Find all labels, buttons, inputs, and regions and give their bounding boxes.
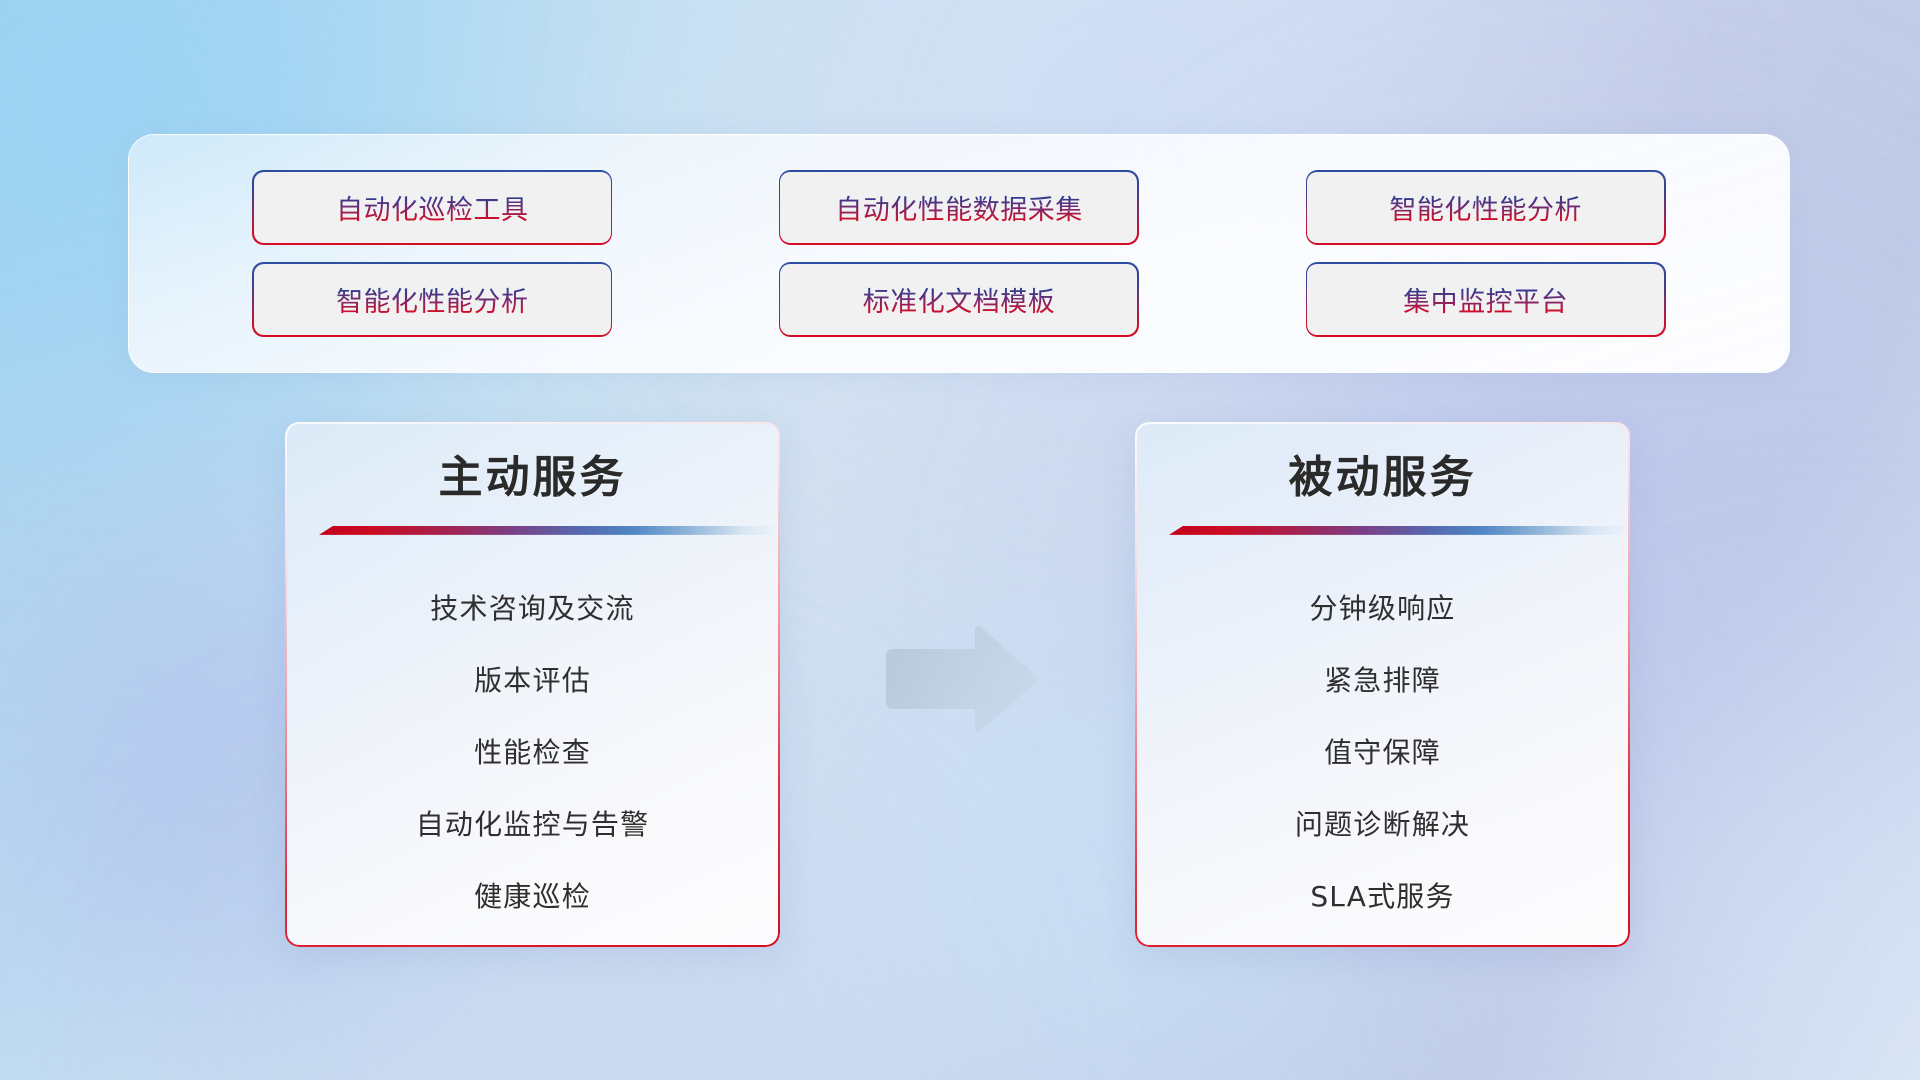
list-item: 紧急排障 <box>1324 643 1441 715</box>
capability-tag-cell: 自动化巡检工具 <box>169 172 696 243</box>
list-item: 技术咨询及交流 <box>430 571 634 643</box>
arrow-right-icon <box>880 620 1040 738</box>
capability-tag-label: 自动化巡检工具 <box>336 188 529 227</box>
capability-tag-cell: 标准化文档模板 <box>696 264 1223 335</box>
card-divider-gradient <box>319 526 780 535</box>
capability-tag-label: 智能化性能分析 <box>336 280 529 319</box>
capability-tag-automated-performance-data-collection[interactable]: 自动化性能数据采集 <box>780 172 1137 243</box>
list-item: 值守保障 <box>1324 715 1441 787</box>
capability-tag-cell: 智能化性能分析 <box>169 264 696 335</box>
capability-tag-cell: 自动化性能数据采集 <box>696 172 1223 243</box>
capability-tag-panel: 自动化巡检工具 自动化性能数据采集 智能化性能分析 智能化性能分析 标准化文档模… <box>128 134 1790 373</box>
card-divider-wrap <box>1169 526 1596 537</box>
capability-tag-intelligent-performance-analysis-2[interactable]: 智能化性能分析 <box>254 264 611 335</box>
capability-tag-row-2: 智能化性能分析 标准化文档模板 集中监控平台 <box>169 264 1749 335</box>
list-item: 健康巡检 <box>474 859 591 931</box>
card-divider-gradient <box>1169 526 1630 535</box>
capability-tag-label: 智能化性能分析 <box>1389 188 1582 227</box>
service-list-proactive: 技术咨询及交流 版本评估 性能检查 自动化监控与告警 健康巡检 <box>319 571 746 947</box>
capability-tag-cell: 智能化性能分析 <box>1222 172 1749 243</box>
capability-tag-label: 集中监控平台 <box>1403 280 1568 319</box>
capability-tag-row-1: 自动化巡检工具 自动化性能数据采集 智能化性能分析 <box>169 172 1749 243</box>
list-item: 版本评估 <box>474 643 591 715</box>
capability-tag-cell: 集中监控平台 <box>1222 264 1749 335</box>
capability-tag-intelligent-performance-analysis[interactable]: 智能化性能分析 <box>1307 172 1664 243</box>
capability-tag-automated-inspection-tool[interactable]: 自动化巡检工具 <box>254 172 611 243</box>
capability-tag-label: 标准化文档模板 <box>863 280 1056 319</box>
capability-tag-label: 自动化性能数据采集 <box>835 188 1083 227</box>
capability-tag-centralized-monitoring-platform[interactable]: 集中监控平台 <box>1307 264 1664 335</box>
list-item: 问题诊断解决 <box>1295 787 1470 859</box>
list-item: 自动化监控与告警 <box>416 787 650 859</box>
service-card-proactive: 主动服务 技术咨询及交流 版本评估 性能检查 自动化监控与告警 健康巡检 <box>285 422 780 947</box>
list-item: 性能检查 <box>474 715 591 787</box>
list-item: 分钟级响应 <box>1309 571 1455 643</box>
card-title-proactive: 主动服务 <box>319 452 746 504</box>
service-list-reactive: 分钟级响应 紧急排障 值守保障 问题诊断解决 SLA式服务 <box>1169 571 1596 947</box>
capability-tag-standardized-document-template[interactable]: 标准化文档模板 <box>780 264 1137 335</box>
card-divider-wrap <box>319 526 746 537</box>
card-title-reactive: 被动服务 <box>1169 452 1596 504</box>
list-item: SLA式服务 <box>1310 859 1454 931</box>
service-card-reactive: 被动服务 分钟级响应 紧急排障 值守保障 问题诊断解决 SLA式服务 <box>1135 422 1630 947</box>
